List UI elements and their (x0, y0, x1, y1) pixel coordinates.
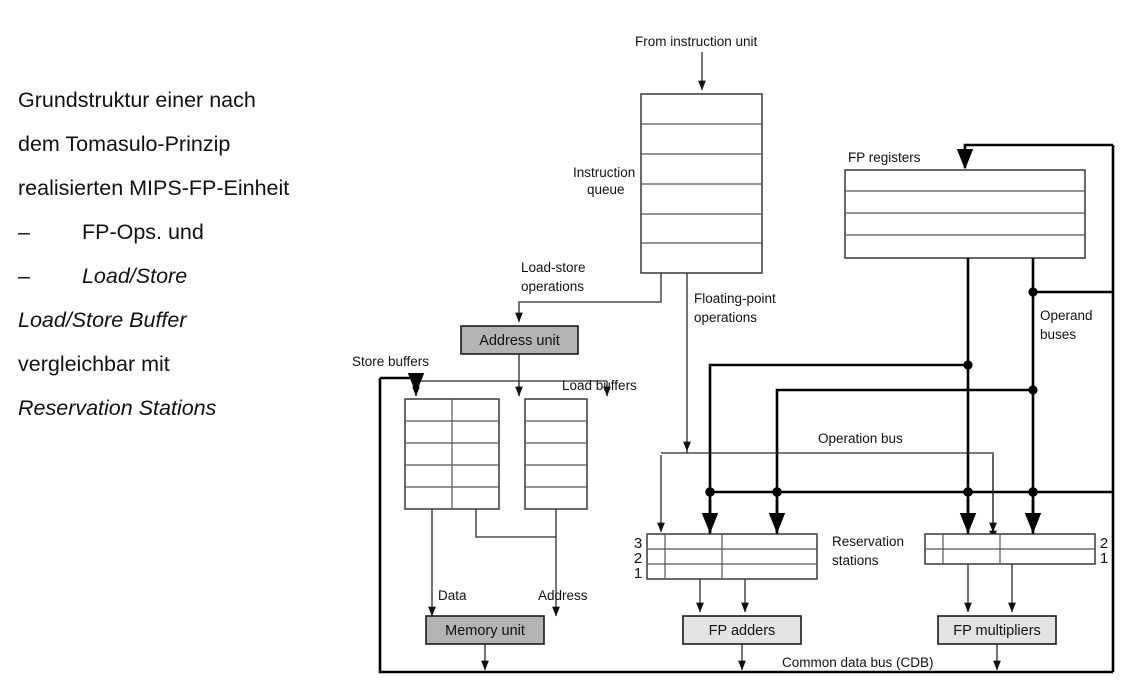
rs-adders-box (647, 534, 817, 579)
label-fp-registers: FP registers (848, 150, 921, 165)
junction-dot-cdb-a (705, 487, 715, 497)
fp-adders-label: FP adders (709, 623, 776, 639)
junction-dot-operand-right (1028, 287, 1037, 296)
junction-dot-cdb-b (772, 487, 782, 497)
address-unit-label: Address unit (479, 333, 560, 349)
label-data: Data (438, 588, 467, 603)
label-load-buffers: Load buffers (562, 378, 637, 393)
label-reservation-stations-line2: stations (832, 553, 879, 568)
store-buffers-box (405, 399, 499, 509)
label-from-instruction-unit: From instruction unit (635, 34, 758, 49)
junction-dot-ob1 (963, 360, 972, 369)
label-floating-point-operations-line2: operations (694, 310, 757, 325)
fp-registers-box (845, 170, 1085, 258)
rs-multipliers-box (925, 534, 1095, 564)
path-cdb-to-store-buffers (380, 378, 416, 392)
label-load-store-operations-line1: Load-store (521, 260, 586, 275)
fp-adders-unit: FP adders (683, 616, 801, 644)
label-reservation-stations-line1: Reservation (832, 534, 904, 549)
path-cdb-writeback-to-registers (965, 145, 1113, 168)
tomasulo-diagram: From instruction unit Instruction queue … (0, 0, 1129, 682)
label-instruction-queue-line1: Instruction (573, 165, 635, 180)
address-unit: Address unit (461, 326, 578, 354)
fp-multipliers-unit: FP multipliers (938, 616, 1056, 644)
label-load-store-operations-line2: operations (521, 279, 584, 294)
label-floating-point-operations-line1: Floating-point (694, 291, 776, 306)
fp-multipliers-label: FP multipliers (953, 623, 1041, 639)
junction-dot-cdb-c (963, 487, 973, 497)
load-buffers-box (525, 399, 587, 509)
rs-adder-row-label-1: 1 (634, 565, 642, 582)
label-operation-bus: Operation bus (818, 431, 903, 446)
slide-page: Grundstruktur einer nach dem Tomasulo-Pr… (0, 0, 1129, 682)
instruction-queue-box (641, 94, 762, 273)
label-address: Address (538, 588, 588, 603)
label-common-data-bus: Common data bus (CDB) (782, 655, 934, 670)
label-operand-buses-line2: buses (1040, 327, 1076, 342)
operation-bus-path (687, 453, 993, 540)
junction-dot-cdb-d (1028, 487, 1038, 497)
rs-mult-row-label-1: 1 (1100, 550, 1108, 567)
memory-unit: Memory unit (426, 616, 544, 644)
label-operand-buses-line1: Operand (1040, 308, 1093, 323)
memory-unit-label: Memory unit (445, 623, 525, 639)
label-instruction-queue-line2: queue (587, 182, 625, 197)
operand-bus-2-branch-to-adders (777, 390, 1033, 540)
junction-dot-ob2 (1028, 385, 1037, 394)
label-store-buffers: Store buffers (352, 354, 429, 369)
